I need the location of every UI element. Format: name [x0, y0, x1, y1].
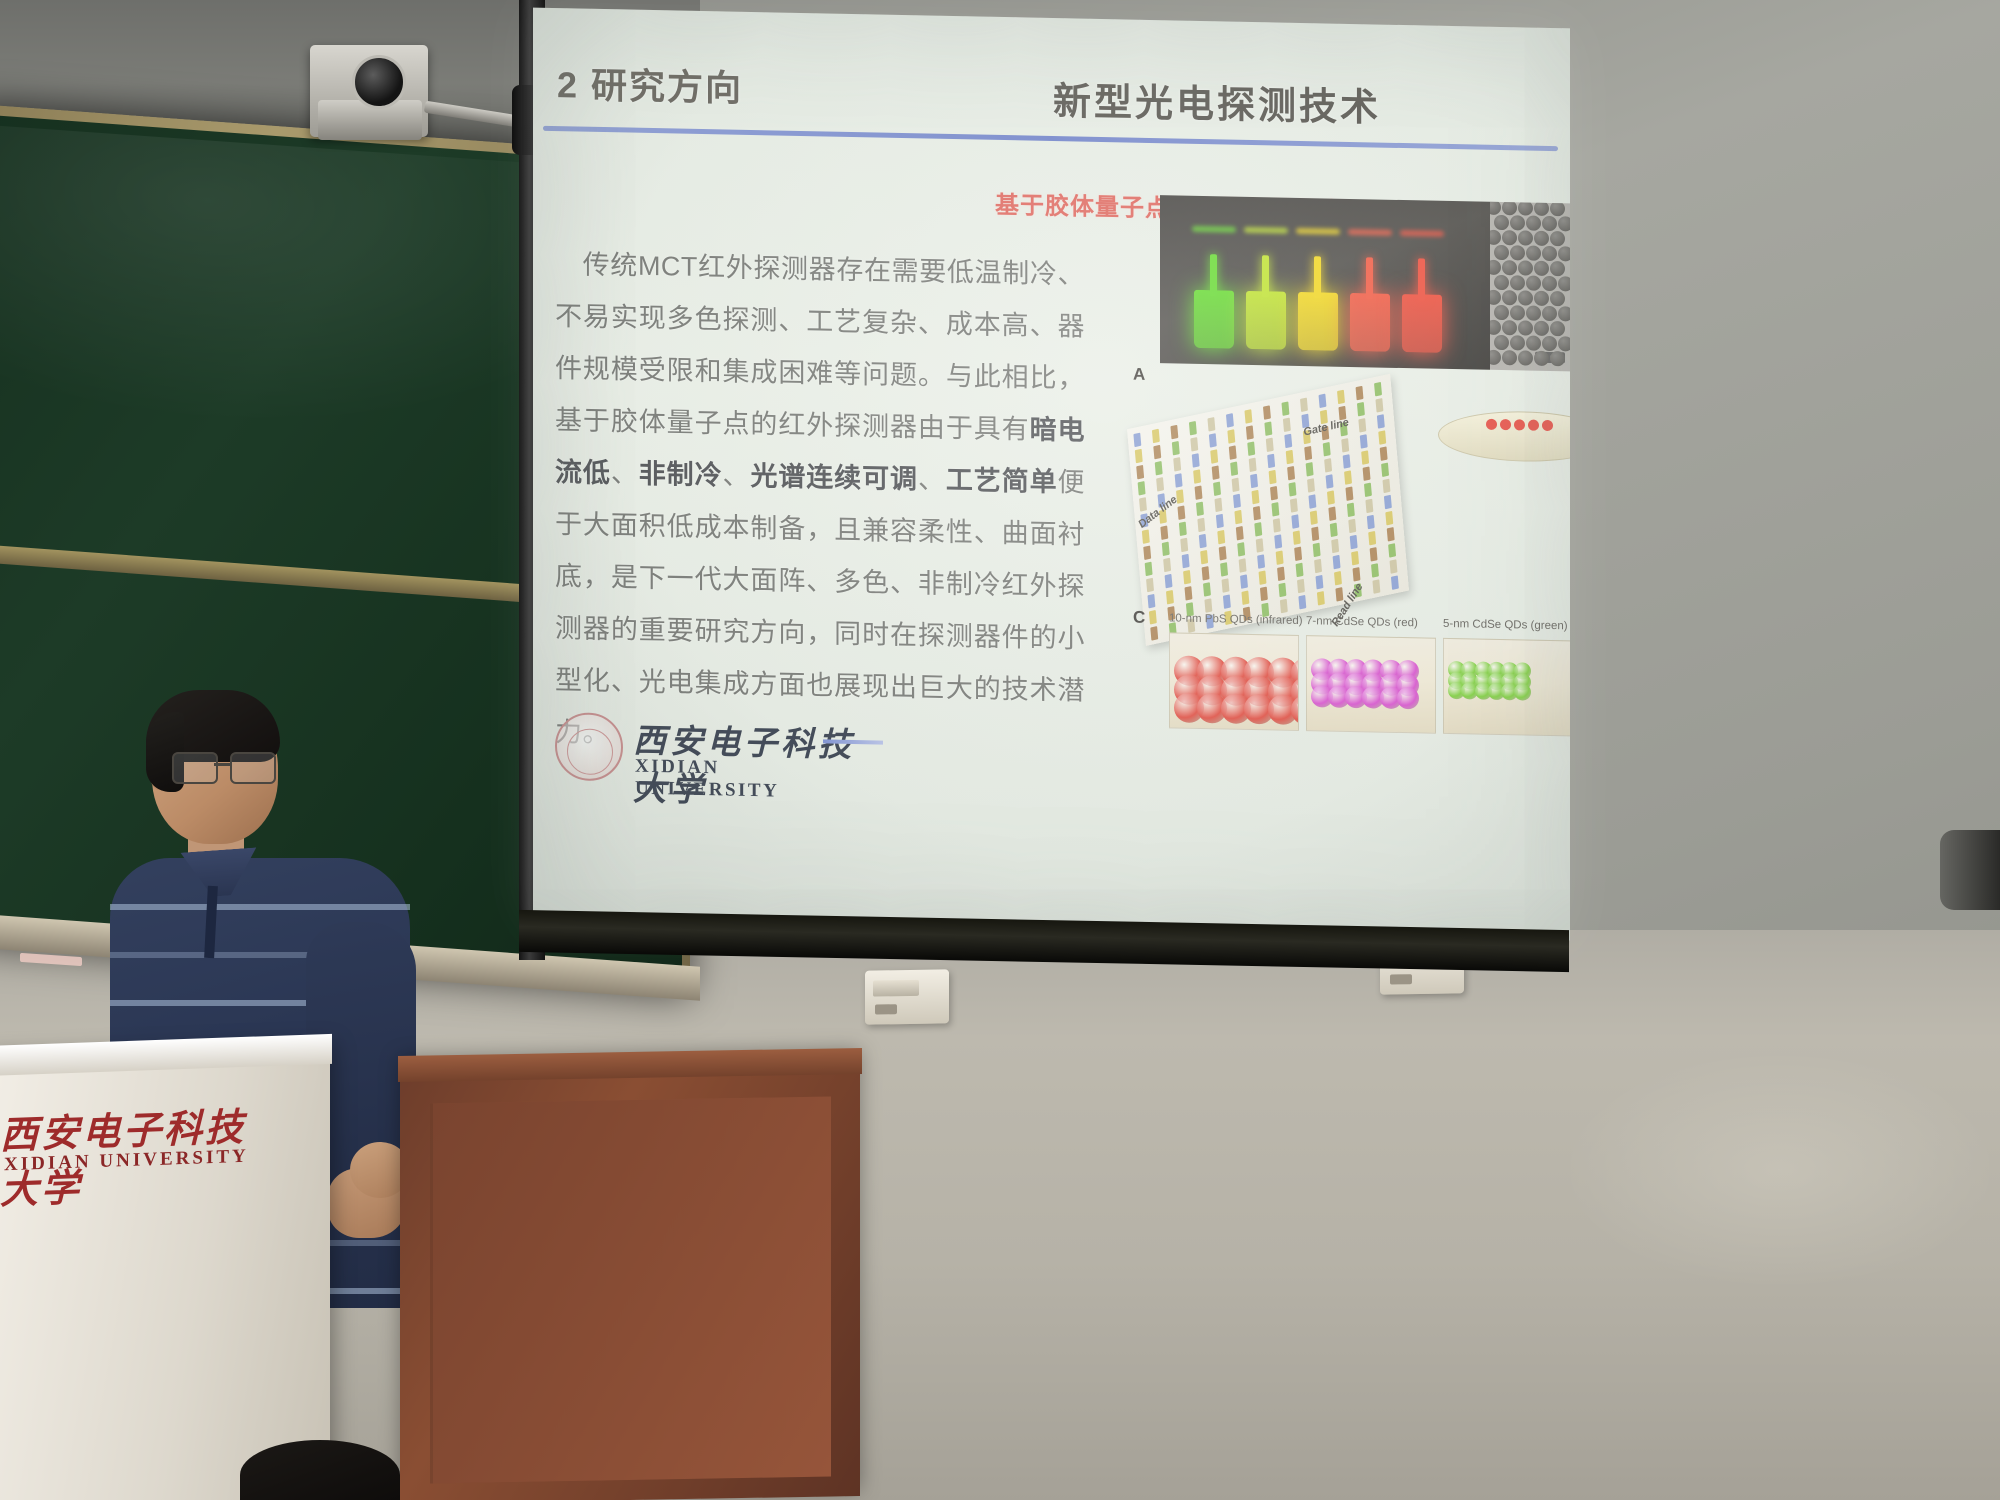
array-pixel — [1364, 483, 1372, 498]
nanoparticle-dot — [1526, 216, 1541, 231]
array-pixel — [1199, 534, 1207, 549]
array-pixel — [1145, 562, 1153, 577]
nanoparticle-dot — [1502, 320, 1517, 335]
array-pixel — [1227, 429, 1235, 444]
vial-cap-glow — [1296, 228, 1340, 235]
slide-body-span: 便于大面积低成本制备，且兼容柔性、曲面衬底，是下一代大面阵、多色、非制冷红外探测… — [555, 467, 1085, 748]
nanoparticle-dot — [1558, 276, 1570, 291]
array-pixel — [1138, 481, 1146, 496]
array-pixel — [1297, 579, 1305, 594]
array-pixel — [1374, 382, 1382, 397]
array-pixel — [1133, 433, 1141, 448]
nanoparticle-dot — [1490, 202, 1501, 215]
qd-dot — [1500, 419, 1511, 430]
nanoparticle-dot — [1510, 245, 1525, 260]
array-pixel — [1136, 465, 1144, 480]
array-pixel — [1368, 531, 1376, 546]
vial-cap-glow — [1192, 226, 1236, 233]
array-pixel — [1197, 518, 1205, 533]
slide-body-span: 、 — [918, 464, 946, 495]
vial-neck — [1210, 254, 1217, 296]
qd-illustration-box — [1306, 635, 1436, 734]
array-pixel — [1239, 558, 1247, 573]
array-pixel — [1204, 598, 1212, 613]
glasses-bridge — [214, 763, 230, 766]
panel-c-label: 5-nm CdSe QDs (green) — [1443, 618, 1568, 633]
nanoparticle-dot — [1494, 245, 1509, 260]
array-pixel — [1365, 499, 1373, 514]
fluorescent-vial — [1246, 291, 1286, 350]
array-pixel — [1163, 558, 1171, 573]
slide-accent-rule — [543, 126, 1558, 151]
glasses-icon — [172, 752, 276, 782]
array-pixel — [1160, 525, 1168, 540]
nanoparticle-dot — [1534, 321, 1549, 336]
array-pixel — [1324, 458, 1332, 473]
array-pixel — [1281, 401, 1289, 416]
array-pixel — [1203, 582, 1211, 597]
fluorescent-vial — [1402, 294, 1442, 353]
nanoparticle-dot — [1490, 350, 1501, 365]
array-pixel — [1223, 594, 1231, 609]
array-pixel — [1214, 498, 1222, 513]
seal-inner-ring — [567, 728, 613, 775]
array-pixel — [1306, 462, 1314, 477]
array-pixel — [1291, 514, 1299, 529]
device-cross-section — [1428, 404, 1570, 470]
array-pixel — [1371, 563, 1379, 578]
array-pixel — [1222, 578, 1230, 593]
array-pixel — [1166, 590, 1174, 605]
array-pixel — [1327, 490, 1335, 505]
array-pixel — [1345, 486, 1353, 501]
nanoparticle-dot — [1526, 246, 1541, 261]
array-pixel — [1358, 418, 1366, 433]
room-background: 2 研究方向 新型光电探测技术 基于胶体量子点光电探测器研究 传统MCT红外探测… — [0, 0, 2000, 1500]
array-pixel — [1139, 497, 1147, 512]
array-pixel — [1209, 433, 1217, 448]
nanoparticle-dot — [1518, 202, 1533, 216]
array-pixel — [1300, 397, 1308, 412]
array-pixel — [1170, 425, 1178, 440]
qd-dot — [1542, 420, 1553, 431]
vial-cap-glow — [1400, 230, 1444, 237]
slide-title: 新型光电探测技术 — [1053, 70, 1381, 132]
fluorescence-photo — [1160, 195, 1490, 370]
array-pixel — [1317, 591, 1325, 606]
array-pixel — [1343, 454, 1351, 469]
array-pixel — [1326, 474, 1334, 489]
array-pixel — [1287, 466, 1295, 481]
nanoparticle-dot — [1494, 335, 1509, 350]
array-pixel — [1357, 402, 1365, 417]
array-pixel — [1264, 421, 1272, 436]
array-pixel — [1236, 526, 1244, 541]
nanoparticle-dot — [1550, 202, 1565, 217]
array-pixel — [1269, 470, 1277, 485]
vial-neck — [1418, 258, 1425, 300]
glasses-lens-right — [230, 752, 276, 784]
array-pixel — [1153, 445, 1161, 460]
slide-body-text: 传统MCT红外探测器存在需要低温制冷、不易实现多色探测、工艺复杂、成本高、器件规… — [555, 238, 1085, 769]
array-pixel — [1195, 485, 1203, 500]
slide-body-span: 、 — [611, 458, 639, 489]
nanoparticle-dot — [1542, 336, 1557, 351]
array-pixel — [1347, 503, 1355, 518]
desk-front-panel — [430, 1097, 831, 1484]
array-pixel — [1390, 559, 1398, 574]
array-pixel — [1256, 538, 1264, 553]
array-pixel — [1234, 510, 1242, 525]
nanoparticle-dot — [1490, 290, 1501, 305]
array-pixel — [1184, 586, 1192, 601]
array-pixel — [1250, 474, 1258, 489]
array-pixel — [1331, 539, 1339, 554]
array-pixel — [1175, 473, 1183, 488]
camera-lens-icon — [352, 55, 406, 109]
panel-a-label: A — [1133, 365, 1145, 385]
nanoparticle-dot — [1510, 215, 1525, 230]
array-pixel — [1377, 414, 1385, 429]
array-pixel — [1378, 430, 1386, 445]
nanoparticle-dot — [1518, 290, 1533, 305]
array-pixel — [1356, 386, 1364, 401]
array-pixel — [1149, 610, 1157, 625]
array-pixel — [1391, 575, 1399, 590]
nanoparticle-dot — [1550, 261, 1565, 276]
nanoparticle-dot — [1542, 306, 1557, 321]
array-pixel — [1247, 441, 1255, 456]
nanoparticle-dot — [1502, 290, 1517, 305]
array-pixel — [1286, 450, 1294, 465]
nanoparticle-dot — [1510, 335, 1525, 350]
quantum-dot — [1514, 683, 1531, 700]
array-pixel — [1372, 579, 1380, 594]
nanoparticle-dot — [1550, 351, 1565, 366]
array-pixel — [1155, 461, 1163, 476]
array-pixel — [1370, 547, 1378, 562]
array-pixel — [1190, 437, 1198, 452]
projected-slide: 2 研究方向 新型光电探测技术 基于胶体量子点光电探测器研究 传统MCT红外探测… — [533, 8, 1570, 941]
array-pixel — [1334, 571, 1342, 586]
nanoparticle-dot — [1526, 306, 1541, 321]
array-pixel — [1217, 530, 1225, 545]
array-pixel — [1293, 530, 1301, 545]
quantum-dot — [1397, 687, 1419, 709]
array-pixel — [1311, 526, 1319, 541]
nanoparticle-dot — [1550, 291, 1565, 306]
nanoparticle-dot — [1494, 275, 1509, 290]
array-pixel — [1274, 534, 1282, 549]
cross-section-dome — [1438, 410, 1570, 463]
array-pixel — [1220, 562, 1228, 577]
array-pixel — [1182, 554, 1190, 569]
array-pixel — [1380, 446, 1388, 461]
array-pixel — [1251, 490, 1259, 505]
array-pixel — [1298, 595, 1306, 610]
array-pixel — [1135, 449, 1143, 464]
array-pixel — [1341, 438, 1349, 453]
array-pixel — [1146, 578, 1154, 593]
array-pixel — [1233, 494, 1241, 509]
nanoparticle-dot — [1534, 351, 1549, 366]
nanoparticle-dot — [1534, 261, 1549, 276]
vial-cap-glow — [1244, 227, 1288, 234]
nanoparticle-dot — [1558, 336, 1570, 351]
array-pixel — [1273, 518, 1281, 533]
array-pixel — [1219, 546, 1227, 561]
array-pixel — [1314, 559, 1322, 574]
slide-body-span: 传统MCT红外探测器存在需要低温制冷、不易实现多色探测、工艺复杂、成本高、器件规… — [555, 249, 1085, 445]
nanoparticle-dot — [1542, 276, 1557, 291]
nanoparticle-dot — [1550, 321, 1565, 336]
nanoparticle-dot — [1534, 231, 1549, 246]
array-pixel — [1351, 551, 1359, 566]
tem-nanoparticle-image: 50 nm — [1490, 202, 1570, 372]
array-pixel — [1310, 510, 1318, 525]
nanoparticle-dot — [1502, 230, 1517, 245]
array-pixel — [1289, 482, 1297, 497]
array-pixel — [1249, 458, 1257, 473]
array-pixel — [1363, 466, 1371, 481]
array-pixel — [1271, 502, 1279, 517]
wall-light-reflection — [1560, 1050, 2000, 1290]
nanoparticle-dot — [1542, 216, 1557, 231]
array-pixel — [1172, 441, 1180, 456]
nanoparticle-dot — [1542, 246, 1557, 261]
array-pixel — [1259, 570, 1267, 585]
array-pixel — [1348, 519, 1356, 534]
vial-cap-glow — [1348, 229, 1392, 236]
array-pixel — [1165, 574, 1173, 589]
array-pixel — [1388, 543, 1396, 558]
array-pixel — [1162, 542, 1170, 557]
nanoparticle-dot — [1494, 305, 1509, 320]
array-pixel — [1143, 545, 1151, 560]
university-seal-icon — [555, 712, 623, 781]
array-pixel — [1230, 461, 1238, 476]
nanoparticle-dot — [1490, 320, 1501, 335]
array-pixel — [1150, 626, 1158, 641]
nanoparticle-dot — [1518, 230, 1533, 245]
qd-illustration-box — [1443, 638, 1570, 737]
wall-box — [865, 969, 949, 1024]
array-pixel — [1210, 449, 1218, 464]
array-pixel — [1277, 567, 1285, 582]
nanoparticle-dot — [1510, 275, 1525, 290]
array-pixel — [1263, 405, 1271, 420]
panel-c-label: C — [1133, 608, 1145, 628]
slide-body-emphasis: 工艺简单 — [946, 465, 1058, 497]
nanoparticle-dot — [1502, 350, 1517, 365]
nanoparticle-dot — [1518, 260, 1533, 275]
array-pixel — [1375, 398, 1383, 413]
array-pixel — [1360, 434, 1368, 449]
array-pixel — [1257, 554, 1265, 569]
array-pixel — [1319, 394, 1327, 409]
array-pixel — [1278, 583, 1286, 598]
array-pixel — [1173, 457, 1181, 472]
array-pixel — [1226, 413, 1234, 428]
nanoparticle-dot — [1490, 260, 1501, 275]
array-pixel — [1260, 587, 1268, 602]
logo-english-name: XIDIAN UNIVERSITY — [635, 756, 855, 804]
glasses-lens-left — [172, 752, 218, 784]
nanoparticle-dot — [1490, 230, 1501, 245]
vial-neck — [1366, 257, 1373, 299]
array-pixel — [1193, 469, 1201, 484]
slide-body-emphasis: 非制冷 — [639, 459, 723, 491]
qd-dot — [1486, 419, 1497, 430]
array-pixel — [1240, 574, 1248, 589]
array-pixel — [1177, 505, 1185, 520]
nanoparticle-dot — [1502, 202, 1517, 216]
array-pixel — [1361, 450, 1369, 465]
array-pixel — [1387, 527, 1395, 542]
array-pixel — [1202, 566, 1210, 581]
array-pixel — [1152, 429, 1160, 444]
array-pixel — [1284, 434, 1292, 449]
array-pixel — [1189, 421, 1197, 436]
fluorescent-vial — [1298, 292, 1338, 351]
array-pixel — [1142, 529, 1150, 544]
nanoparticle-dot — [1526, 276, 1541, 291]
nanoparticle-dot — [1558, 246, 1570, 261]
array-pixel — [1323, 442, 1331, 457]
qd-dot — [1528, 420, 1539, 431]
array-pixel — [1283, 418, 1291, 433]
array-pixel — [1353, 567, 1361, 582]
array-pixel — [1229, 445, 1237, 460]
array-pixel — [1350, 535, 1358, 550]
nanoparticle-dot — [1510, 305, 1525, 320]
array-pixel — [1381, 463, 1389, 478]
slide-body-emphasis: 光谱连续可调 — [750, 461, 918, 494]
array-pixel — [1244, 409, 1252, 424]
array-pixel — [1207, 417, 1215, 432]
array-pixel — [1179, 522, 1187, 537]
array-pixel — [1270, 486, 1278, 501]
array-pixel — [1307, 478, 1315, 493]
shirt-stripe — [110, 904, 410, 910]
array-pixel — [1237, 542, 1245, 557]
array-pixel — [1344, 470, 1352, 485]
array-pixel — [1266, 438, 1274, 453]
array-pixel — [1337, 390, 1345, 405]
qd-dot — [1514, 419, 1525, 430]
array-pixel — [1385, 511, 1393, 526]
array-pixel — [1330, 523, 1338, 538]
array-pixel — [1313, 543, 1321, 558]
array-pixel — [1147, 594, 1155, 609]
array-pixel — [1267, 454, 1275, 469]
array-pixel — [1276, 550, 1284, 565]
qd-illustration-box — [1169, 632, 1299, 731]
nanoparticle-dot — [1558, 306, 1570, 321]
array-pixel — [1241, 590, 1249, 605]
nanoparticle-dot — [1550, 231, 1565, 246]
classroom-scene: 2 研究方向 新型光电探测技术 基于胶体量子点光电探测器研究 传统MCT红外探测… — [0, 0, 2000, 1500]
array-pixel — [1183, 570, 1191, 585]
array-pixel — [1212, 465, 1220, 480]
array-pixel — [1213, 482, 1221, 497]
array-pixel — [1196, 502, 1204, 517]
array-pixel — [1367, 515, 1375, 530]
array-pixel — [1384, 495, 1392, 510]
array-pixel — [1308, 494, 1316, 509]
array-pixel — [1253, 506, 1261, 521]
nanoparticle-dot — [1534, 202, 1549, 216]
right-edge-shadow — [1940, 830, 2000, 910]
fluorescent-vial — [1350, 293, 1390, 352]
fluorescent-vial — [1194, 290, 1234, 349]
nanoparticle-dot — [1518, 320, 1533, 335]
array-pixel — [1333, 555, 1341, 570]
array-pixel — [1304, 446, 1312, 461]
array-pixel — [1382, 479, 1390, 494]
slide-body-span: 、 — [723, 460, 751, 491]
nanoparticle-dot — [1518, 350, 1533, 365]
array-pixel — [1294, 547, 1302, 562]
array-pixel — [1280, 599, 1288, 614]
panel-c-label: 7-nm CdSe QDs (red) — [1306, 615, 1418, 629]
nanoparticle-dot — [1502, 260, 1517, 275]
array-pixel — [1328, 506, 1336, 521]
array-pixel — [1200, 550, 1208, 565]
nanoparticle-dot — [1558, 216, 1570, 231]
array-pixel — [1315, 575, 1323, 590]
array-pixel — [1290, 498, 1298, 513]
slide-section-title: 2 研究方向 — [557, 56, 743, 112]
array-pixel — [1180, 538, 1188, 553]
array-pixel — [1296, 563, 1304, 578]
vial-neck — [1314, 256, 1321, 298]
array-pixel — [1232, 478, 1240, 493]
array-pixel — [1216, 514, 1224, 529]
vial-neck — [1262, 255, 1269, 297]
array-pixel — [1254, 522, 1262, 537]
nanoparticle-dot — [1494, 215, 1509, 230]
array-pixel — [1192, 453, 1200, 468]
nanoparticle-dot — [1526, 336, 1541, 351]
array-pixel — [1246, 425, 1254, 440]
array-pixel — [1156, 477, 1164, 492]
nanoparticle-dot — [1534, 291, 1549, 306]
slide-footer-logo: 西安电子科技大学 XIDIAN UNIVERSITY — [555, 708, 855, 794]
